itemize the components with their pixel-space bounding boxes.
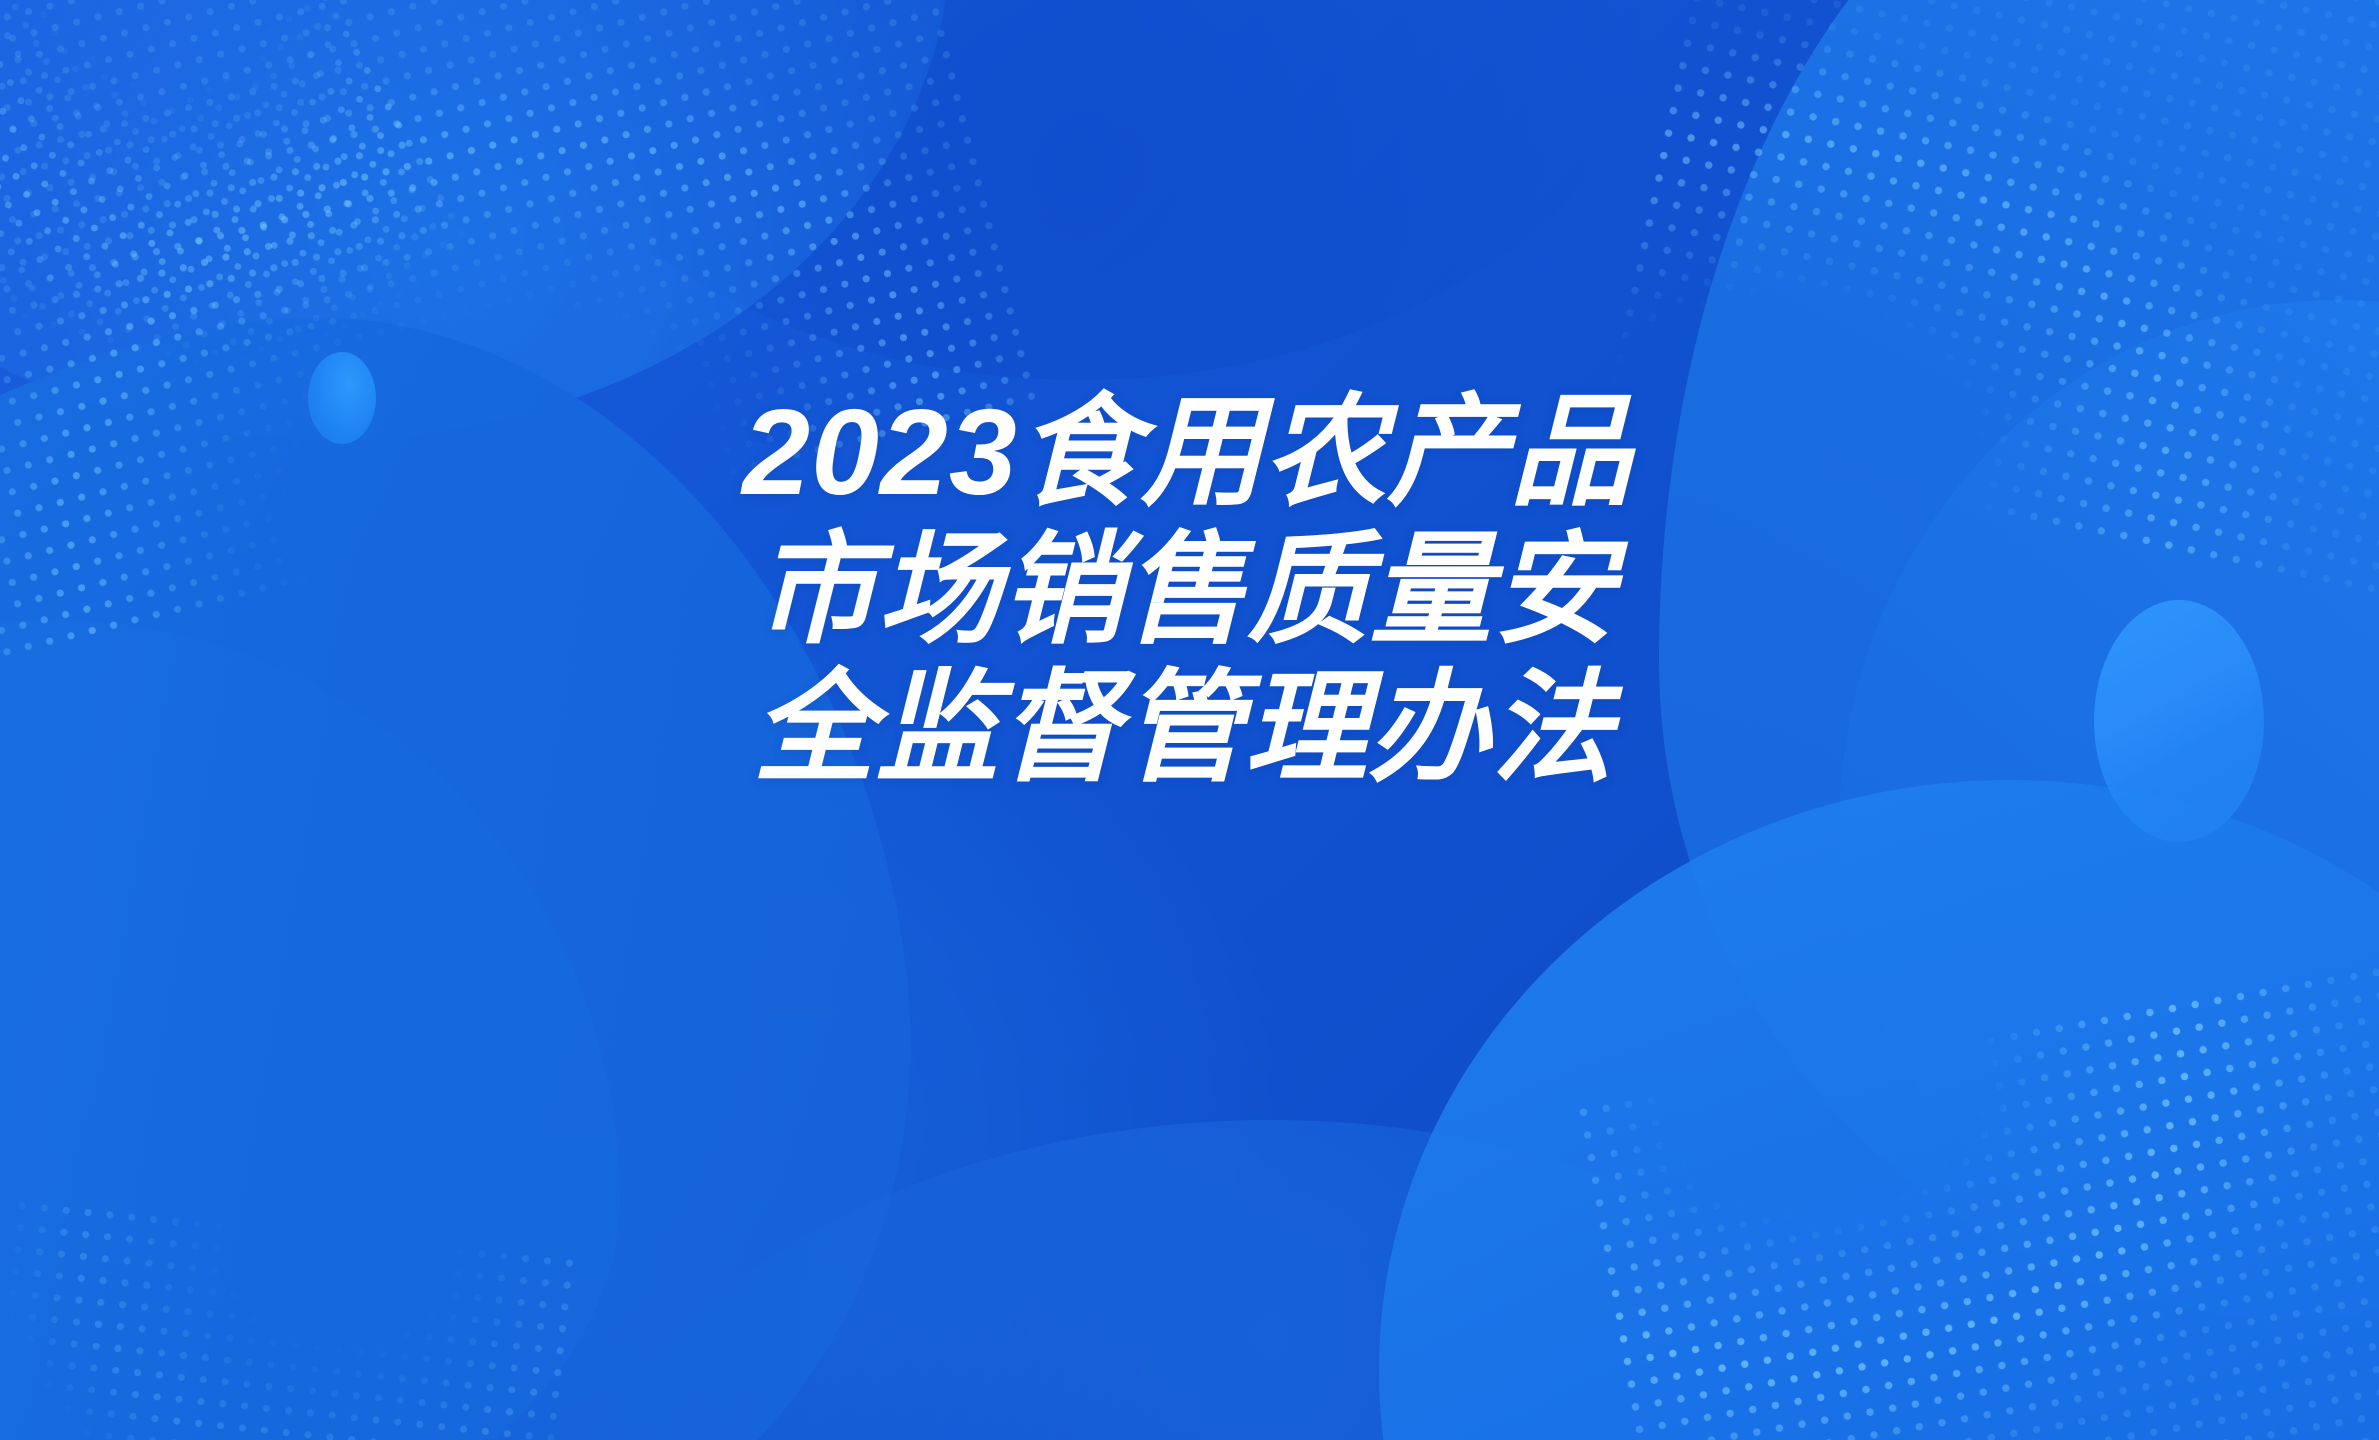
banner-title-line-1: 2023食用农产品	[742, 384, 1632, 522]
banner-title-line-3: 全监督管理办法	[753, 660, 1614, 798]
banner-title-line-2: 市场销售质量安	[755, 522, 1616, 660]
banner-title: 2023食用农产品 市场销售质量安 全监督管理办法	[0, 384, 2379, 798]
banner-canvas: 2023食用农产品 市场销售质量安 全监督管理办法	[0, 0, 2379, 1440]
